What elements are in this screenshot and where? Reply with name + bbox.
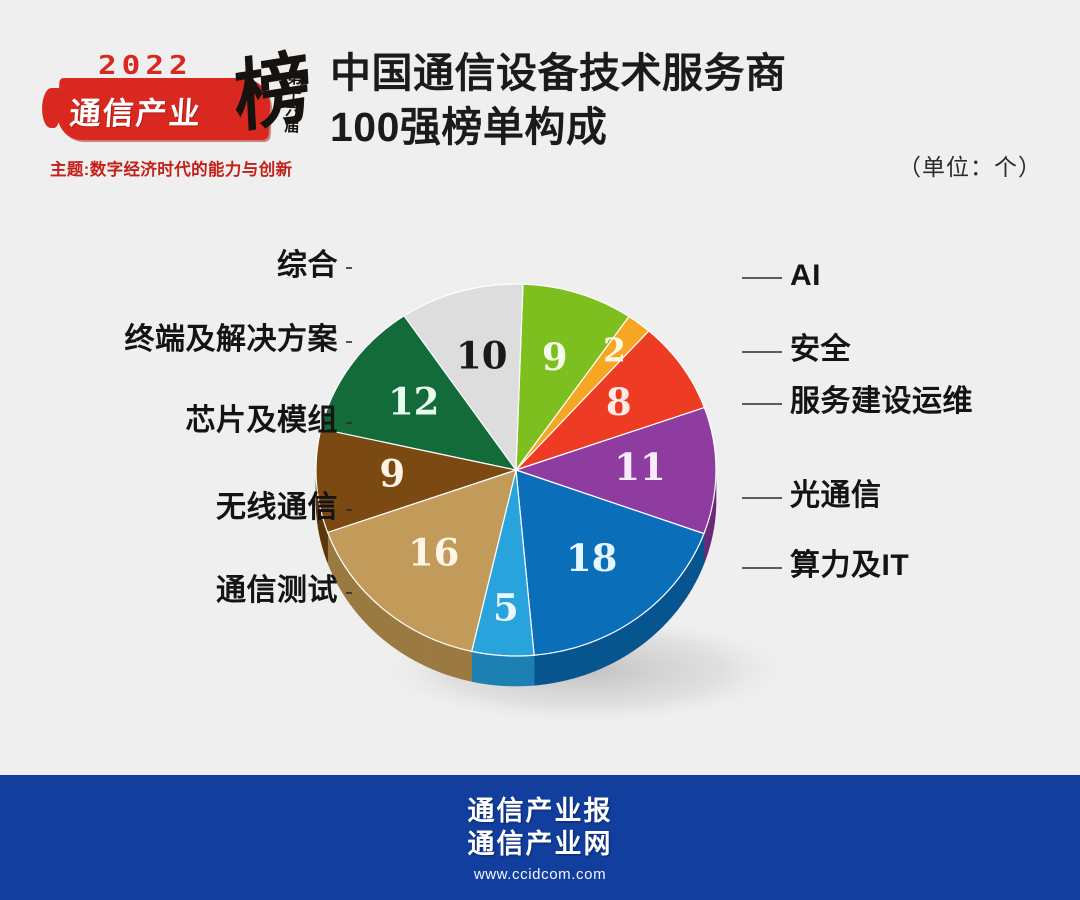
logo-year: 2022 xyxy=(98,51,193,81)
pie-slice-side xyxy=(359,585,362,619)
pie-slice-side xyxy=(443,643,448,675)
footer-content: 通信产业报 通信产业网 www.ccidcom.com xyxy=(0,795,1080,883)
pie-slice-side xyxy=(342,562,345,596)
pie-slice-side xyxy=(391,615,395,648)
pie-slice-side xyxy=(562,650,567,681)
pie-slice-side xyxy=(594,639,599,671)
pie-slice-value-9: 12 xyxy=(388,379,440,423)
pie-slice-side xyxy=(425,635,429,667)
pie-slice-side xyxy=(677,576,680,610)
pie-slice-side xyxy=(407,626,411,658)
pie-slice-side xyxy=(403,623,407,656)
pie-slice-side xyxy=(670,584,674,618)
header: 2022 通信产业 榜 第十六届 主题:数字经济时代的能力与创新 中国通信设备技… xyxy=(0,0,1080,210)
pie-slice-side xyxy=(387,612,391,645)
pie-slice-side xyxy=(651,604,655,638)
pie-slice-side xyxy=(534,655,540,686)
pie-slice-side xyxy=(448,645,453,677)
callout-right-3: 服务建设运维 xyxy=(790,387,973,417)
pie-slice-side xyxy=(420,633,424,665)
pie-slice-side xyxy=(347,570,350,604)
pie-chart: 928111851691210 综合终端及解决方案芯片及模组无线通信通信测试 A… xyxy=(0,200,1080,770)
pie-slice-side xyxy=(416,631,420,663)
pie-slice-value-5: 18 xyxy=(566,536,618,580)
pie-slice-value-10: 10 xyxy=(456,334,508,378)
footer-paper-name: 通信产业报 xyxy=(0,795,1080,828)
callout-left-5: 通信测试 xyxy=(216,576,338,606)
callout-right-1: AI xyxy=(790,261,821,291)
pie-slice-side xyxy=(545,653,551,684)
pie-slice-side xyxy=(663,592,667,626)
pie-slice-side xyxy=(462,649,467,680)
pie-slice-value-2: 2 xyxy=(603,331,626,370)
pie-slice-side xyxy=(684,567,687,601)
pie-slice-side xyxy=(556,651,562,682)
logo-subtitle: 主题:数字经济时代的能力与创新 xyxy=(50,156,293,180)
callout-left-4: 无线通信 xyxy=(216,493,338,523)
title-line-2: 100强榜单构成 xyxy=(330,100,990,154)
pie-slice-side xyxy=(467,650,472,681)
pie-slice-value-4: 11 xyxy=(614,445,666,489)
pie-slice-side xyxy=(452,646,457,677)
pie-slice-side xyxy=(610,632,615,665)
pie-slice-side xyxy=(604,634,609,666)
pie-slice-side xyxy=(578,645,583,677)
pie-slice-side xyxy=(619,626,624,659)
pie-slice-side xyxy=(340,558,342,592)
footer-banner: 通信产业报 通信产业网 www.ccidcom.com xyxy=(0,775,1080,900)
callout-left-3: 芯片及模组 xyxy=(186,406,339,436)
pie-slice-side xyxy=(629,621,634,654)
page-title: 中国通信设备技术服务商 100强榜单构成 xyxy=(330,46,990,154)
event-logo: 2022 通信产业 榜 第十六届 主题:数字经济时代的能力与创新 xyxy=(38,40,308,190)
pie-slice-side xyxy=(681,571,684,605)
pie-slice-side xyxy=(345,566,348,600)
infographic-canvas: 2022 通信产业 榜 第十六届 主题:数字经济时代的能力与创新 中国通信设备技… xyxy=(0,0,1080,900)
pie-slice-side xyxy=(642,611,646,644)
pie-slice-value-1: 9 xyxy=(542,335,568,379)
unit-note: （单位：个） xyxy=(898,148,1042,182)
callout-right-2: 安全 xyxy=(790,335,851,365)
pie-slice-side xyxy=(356,582,359,616)
pie-slice-side xyxy=(599,637,604,669)
pie-slice-side xyxy=(395,618,399,651)
pie-slice-side xyxy=(659,596,663,630)
pie-chart-svg: 928111851691210 xyxy=(0,200,1080,770)
pie-slice-side xyxy=(589,641,594,673)
pie-slice-side xyxy=(667,588,671,622)
pie-slice-side xyxy=(434,639,439,671)
pie-slice-value-3: 8 xyxy=(606,380,632,424)
pie-slice-value-8: 9 xyxy=(379,451,405,495)
callout-left-1: 综合 xyxy=(277,251,338,281)
pie-slice-side xyxy=(638,614,642,647)
pie-slice-side xyxy=(383,609,387,642)
pie-slice-side xyxy=(411,629,415,661)
pie-slice-side xyxy=(362,589,365,623)
pie-slice-side xyxy=(372,599,376,632)
logo-session: 第十六届 xyxy=(282,70,301,135)
pie-slice-side xyxy=(429,638,434,670)
pie-slice-value-7: 16 xyxy=(408,531,460,575)
footer-url[interactable]: www.ccidcom.com xyxy=(0,866,1080,883)
pie-slice-side xyxy=(647,607,651,640)
pie-slice-side xyxy=(614,629,619,662)
pie-slice-side xyxy=(353,578,356,612)
title-line-1: 中国通信设备技术服务商 xyxy=(330,46,990,100)
pie-slice-side xyxy=(655,600,659,634)
pie-slice-side xyxy=(584,643,589,675)
pie-slice-side xyxy=(369,596,372,629)
pie-slice-side xyxy=(573,647,578,679)
logo-brand: 通信产业 xyxy=(68,88,203,133)
pie-slice-side xyxy=(366,593,369,626)
pie-slice-side xyxy=(379,606,383,639)
pie-slice-side xyxy=(634,617,639,650)
callout-left-2: 终端及解决方案 xyxy=(125,325,339,355)
pie-slice-side xyxy=(438,641,443,673)
pie-slice-side xyxy=(540,654,546,685)
pie-slice-value-6: 5 xyxy=(493,586,519,630)
logo-bang-char: 榜 xyxy=(232,48,313,139)
pie-slice-side xyxy=(399,621,403,654)
pie-slice-side xyxy=(376,603,380,636)
pie-slice-side xyxy=(674,580,677,614)
pie-slice-side xyxy=(457,648,462,679)
pie-slice-side xyxy=(551,652,557,683)
pie-slice-side xyxy=(624,624,629,657)
footer-website-name: 通信产业网 xyxy=(0,828,1080,861)
pie-slice-side xyxy=(567,648,572,679)
pie-slice-side xyxy=(350,574,353,608)
callout-right-4: 光通信 xyxy=(790,481,882,511)
callout-right-5: 算力及IT xyxy=(790,551,909,581)
